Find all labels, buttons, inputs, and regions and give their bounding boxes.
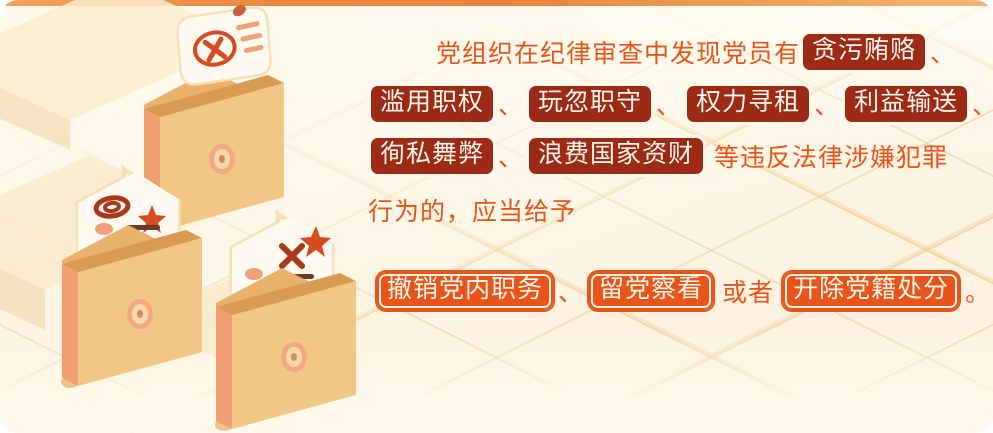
chip-xunsiwubi: 徇私舞弊 xyxy=(371,138,493,174)
line2-sep-1: 、 xyxy=(496,86,526,122)
line3-sep-1: 、 xyxy=(496,138,526,174)
infographic-banner: 党组织在纪律审查中发现党员有 贪污贿赂 、 滥用职权 、 玩忽职守 、 权力寻租… xyxy=(0,0,993,433)
line5-period: 。 xyxy=(962,273,991,309)
line1-suffix: 、 xyxy=(928,34,958,70)
text-line-4: 行为的，应当给予 xyxy=(360,182,980,238)
chip-quanlixunzu: 权力寻租 xyxy=(687,86,809,122)
line4-text: 行为的，应当给予 xyxy=(368,192,576,228)
chip-liyishusong: 利益输送 xyxy=(845,86,967,122)
isometric-case-files-illustration xyxy=(0,0,360,433)
chip-chexiaodangneizhiwu: 撤销党内职务 xyxy=(377,272,553,310)
chip-lanyongzhiquan: 滥用职权 xyxy=(371,86,493,122)
line2-sep-3: 、 xyxy=(812,86,842,122)
chip-langfeiguojiazicai: 浪费国家资财 xyxy=(529,138,703,174)
line2-sep-2: 、 xyxy=(654,86,684,122)
line2-suffix: 、 xyxy=(970,86,993,122)
chip-kaichudangjichufen: 开除党籍处分 xyxy=(783,272,959,310)
folder-bottom xyxy=(215,268,356,431)
text-line-2: 滥用职权 、 玩忽职守 、 权力寻租 、 利益输送 、 xyxy=(360,78,980,130)
line5-connector: 或者 xyxy=(716,273,780,309)
copy-block: 党组织在纪律审查中发现党员有 贪污贿赂 、 滥用职权 、 玩忽职守 、 权力寻租… xyxy=(360,26,980,318)
chip-liudangchakan: 留党察看 xyxy=(589,272,713,310)
text-line-5: 撤销党内职务 、 留党察看 或者 开除党籍处分 。 xyxy=(360,264,980,318)
text-line-1: 党组织在纪律审查中发现党员有 贪污贿赂 、 xyxy=(360,26,980,78)
line3-suffix: 等违反法律涉嫌犯罪 xyxy=(706,138,948,174)
folder-middle xyxy=(61,225,202,388)
line5-sep-1: 、 xyxy=(556,273,586,309)
chip-tanwuhuilu: 贪污贿赂 xyxy=(803,34,925,70)
text-line-3: 徇私舞弊 、 浪费国家资财 等违反法律涉嫌犯罪 xyxy=(360,130,980,182)
line1-prefix: 党组织在纪律审查中发现党员有 xyxy=(436,34,800,70)
chip-wanhuzhishou: 玩忽职守 xyxy=(529,86,651,122)
